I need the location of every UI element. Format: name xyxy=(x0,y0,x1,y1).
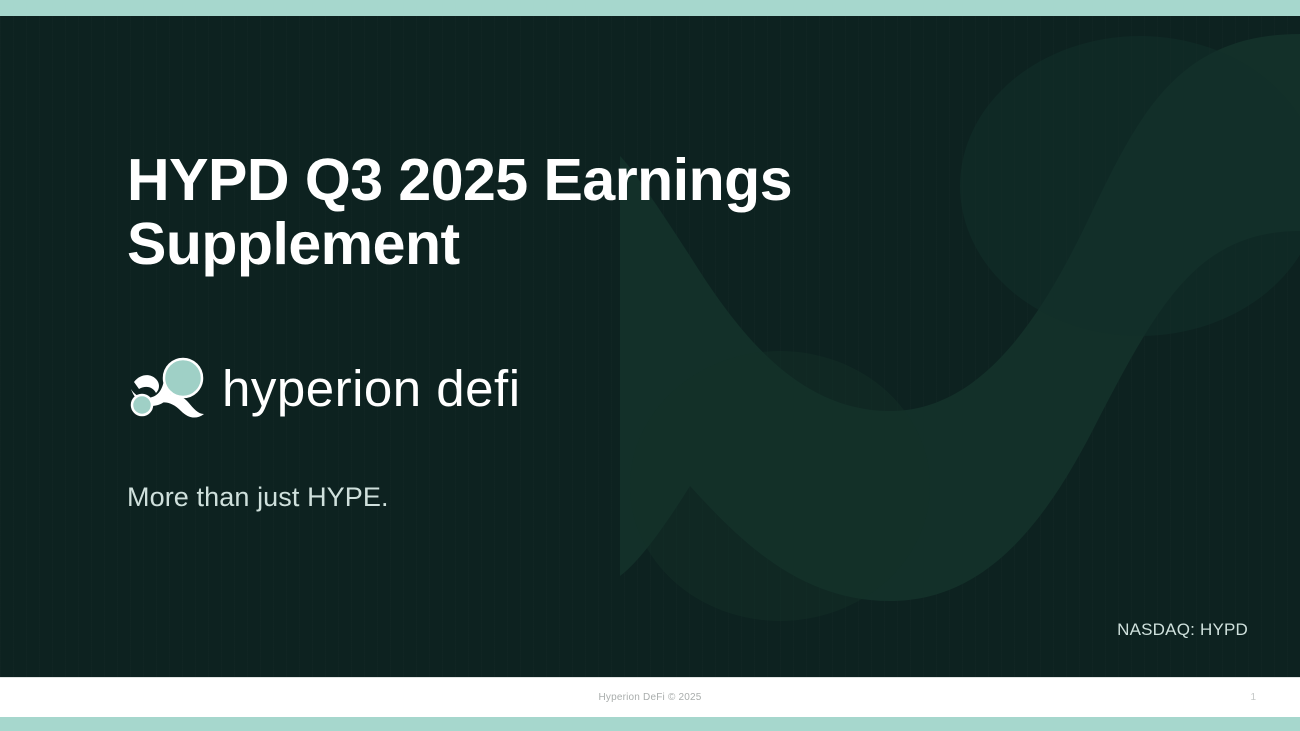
slide-canvas: HYPD Q3 2025 Earnings Supplement hyperio… xyxy=(0,16,1300,677)
footer-copyright: Hyperion DeFi © 2025 xyxy=(0,678,1300,718)
accent-bar-bottom xyxy=(0,717,1300,731)
stock-ticker-label: NASDAQ: HYPD xyxy=(1117,620,1248,640)
page-number: 1 xyxy=(1250,678,1256,718)
hyperion-molecule-icon xyxy=(126,352,208,424)
slide-footer: Hyperion DeFi © 2025 1 xyxy=(0,677,1300,717)
slide-content: HYPD Q3 2025 Earnings Supplement hyperio… xyxy=(0,16,1300,677)
presentation-slide: HYPD Q3 2025 Earnings Supplement hyperio… xyxy=(0,0,1300,731)
brand-wordmark: hyperion defi xyxy=(222,363,521,414)
slide-tagline: More than just HYPE. xyxy=(127,482,389,513)
brand-logo-lockup: hyperion defi xyxy=(126,352,521,424)
page-title: HYPD Q3 2025 Earnings Supplement xyxy=(127,149,827,276)
accent-bar-top xyxy=(0,0,1300,16)
